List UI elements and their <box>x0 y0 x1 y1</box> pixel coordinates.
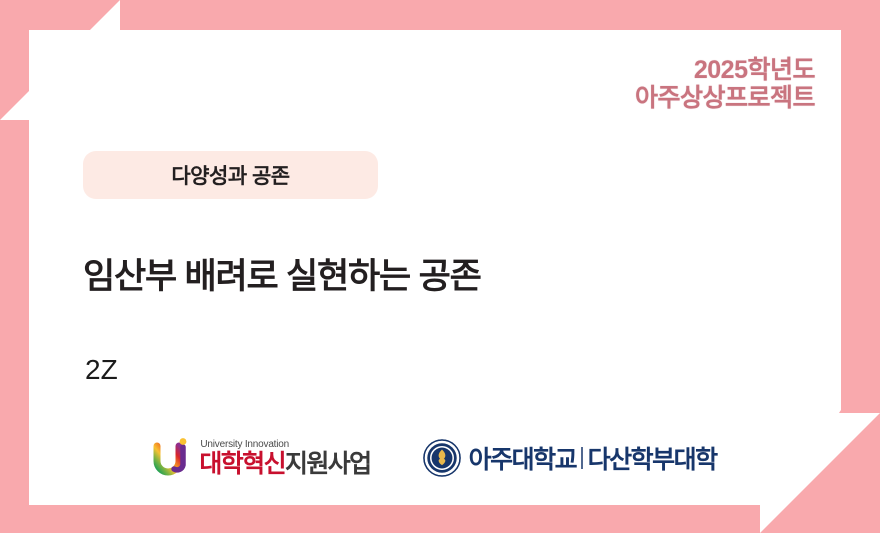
ajou-college-name: 다산학부대학 <box>588 440 717 476</box>
team-label: 2Z <box>85 354 118 386</box>
project-title: 임산부 배려로 실현하는 공존 <box>83 248 481 299</box>
slide-card: 2025학년도 아주상상프로젝트 다양성과 공존 임산부 배려로 실현하는 공존… <box>29 30 841 505</box>
footer-logo-row: University Innovation 대학혁신지원사업 아주대학교 다산학… <box>29 429 841 487</box>
ajou-logo-divider <box>581 447 583 469</box>
university-innovation-title-dark: 지원사업 <box>285 450 371 478</box>
university-innovation-title: 대학혁신지원사업 <box>199 452 370 477</box>
university-innovation-logo: University Innovation 대학혁신지원사업 <box>153 438 370 478</box>
ajou-university-logo: 아주대학교 다산학부대학 <box>423 439 717 477</box>
header-title: 2025학년도 아주상상프로젝트 <box>635 56 815 112</box>
university-innovation-mark-icon <box>153 438 191 478</box>
category-badge: 다양성과 공존 <box>83 151 378 199</box>
category-badge-label: 다양성과 공존 <box>171 160 289 190</box>
university-innovation-subtitle: University Innovation <box>200 440 370 450</box>
ajou-university-text: 아주대학교 다산학부대학 <box>469 440 717 476</box>
university-innovation-text: University Innovation 대학혁신지원사업 <box>199 440 370 477</box>
ajou-university-title: 아주대학교 <box>469 440 577 476</box>
ajou-seal-icon <box>423 439 461 477</box>
university-innovation-title-red: 대학혁신 <box>199 450 285 478</box>
